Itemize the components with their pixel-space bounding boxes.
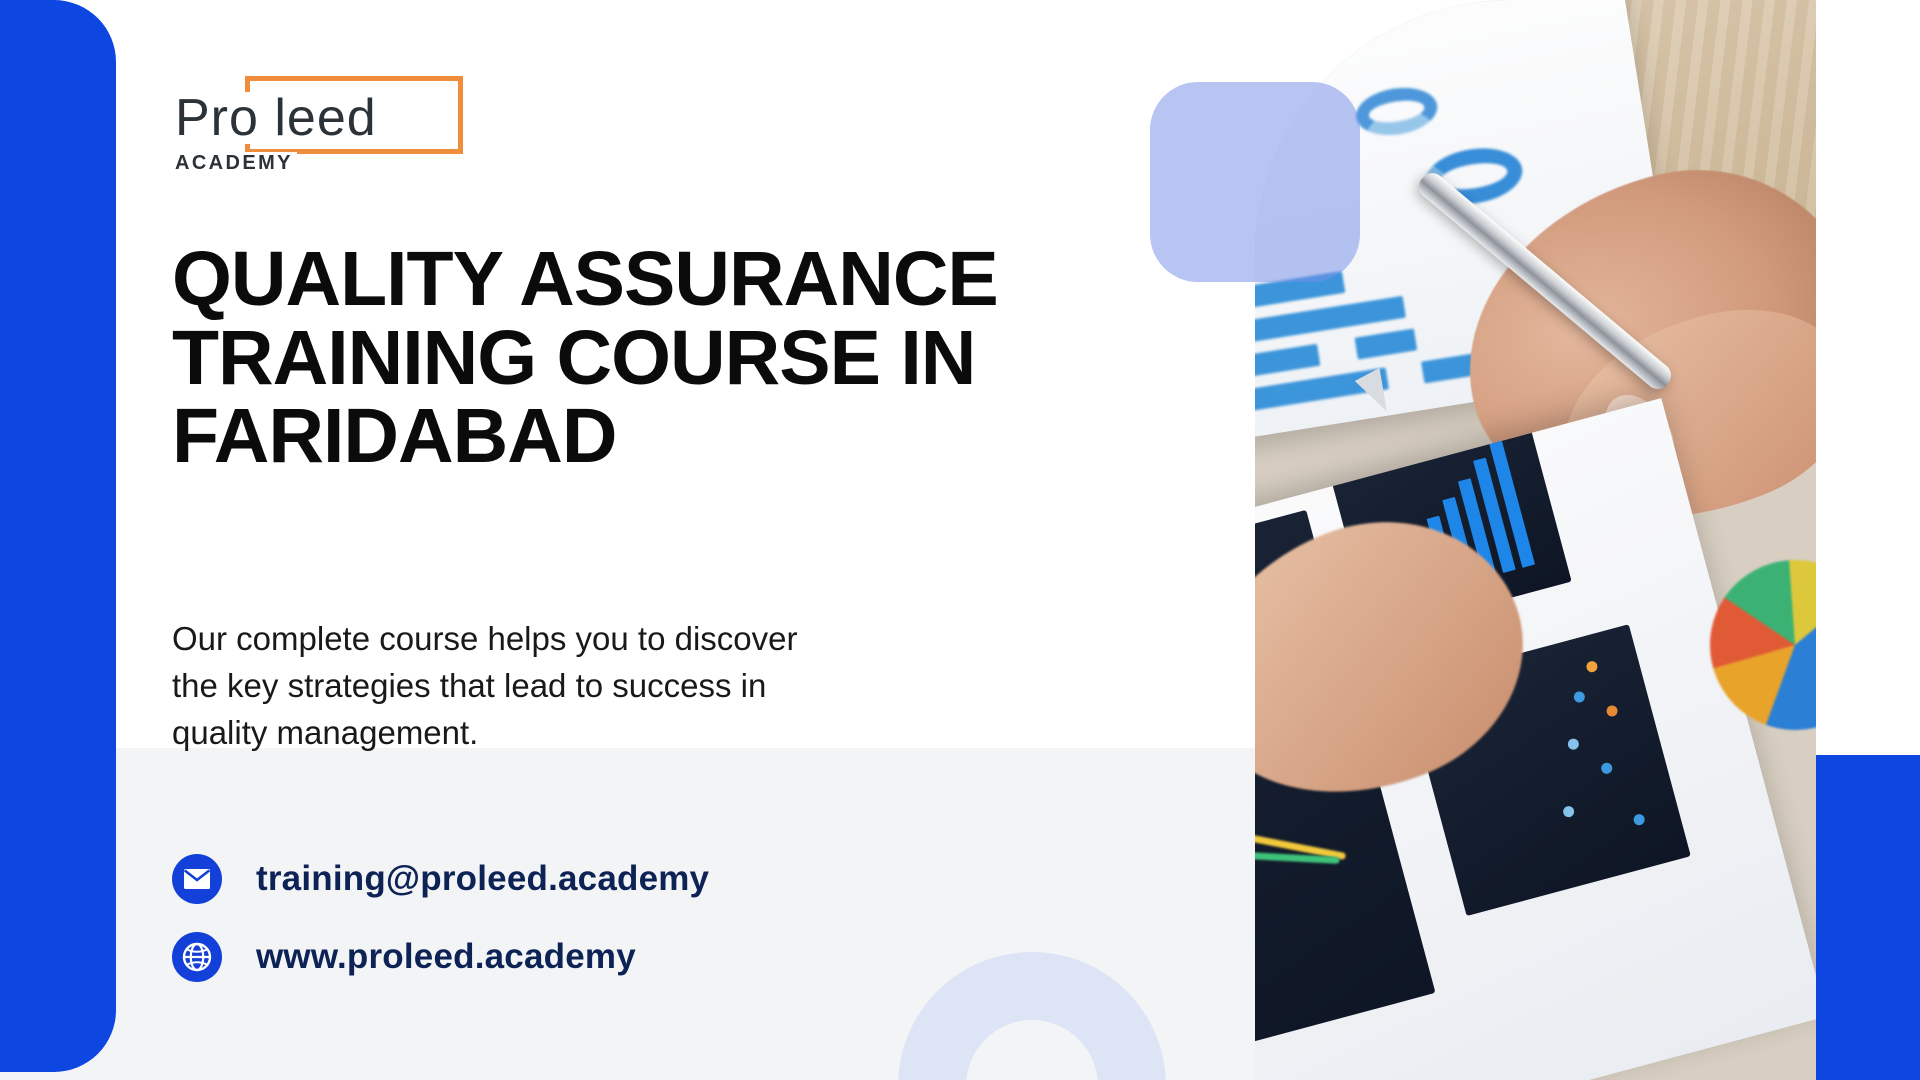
photo-scatter-6 xyxy=(1562,805,1575,818)
left-blue-bar xyxy=(0,0,116,1072)
logo-word-primary: Pro xyxy=(175,89,259,147)
photo-scatter-2 xyxy=(1573,690,1586,703)
page-title: QUALITY ASSURANCE TRAINING COURSE IN FAR… xyxy=(172,240,1182,476)
photo-scatter-5 xyxy=(1600,762,1613,775)
logo-word-secondary: leed xyxy=(274,89,376,147)
subtitle-paragraph: Our complete course helps you to discove… xyxy=(172,616,852,757)
contact-website-label: www.proleed.academy xyxy=(256,937,636,977)
photo-scatter-7 xyxy=(1632,813,1645,826)
headline-line-3: FARIDABAD xyxy=(172,397,1182,476)
logo-subtitle: ACADEMY xyxy=(175,152,297,175)
brand-logo[interactable]: Pro leed ACADEMY xyxy=(172,76,472,172)
bottom-right-blue-block xyxy=(1816,755,1920,1080)
contact-email-label: training@proleed.academy xyxy=(256,859,709,899)
contact-list: training@proleed.academy www.proleed.aca… xyxy=(172,848,709,1004)
photo-bar-4 xyxy=(1355,328,1418,359)
globe-icon xyxy=(172,932,222,982)
envelope-icon xyxy=(172,854,222,904)
contact-row-email[interactable]: training@proleed.academy xyxy=(172,848,709,910)
photo-scatter-1 xyxy=(1585,660,1598,673)
headline-line-2: TRAINING COURSE IN xyxy=(172,319,1182,398)
logo-wordmark: Pro leed xyxy=(172,92,380,144)
marketing-poster: Pro leed ACADEMY QUALITY ASSURANCE TRAIN… xyxy=(0,0,1920,1080)
photo-scatter-4 xyxy=(1567,737,1580,750)
headline-line-1: QUALITY ASSURANCE xyxy=(172,240,1182,319)
contact-row-website[interactable]: www.proleed.academy xyxy=(172,926,709,988)
photo-donut-chart-1 xyxy=(1353,82,1441,140)
photo-scatter-3 xyxy=(1605,704,1618,717)
photo-bar-3 xyxy=(1255,344,1320,378)
